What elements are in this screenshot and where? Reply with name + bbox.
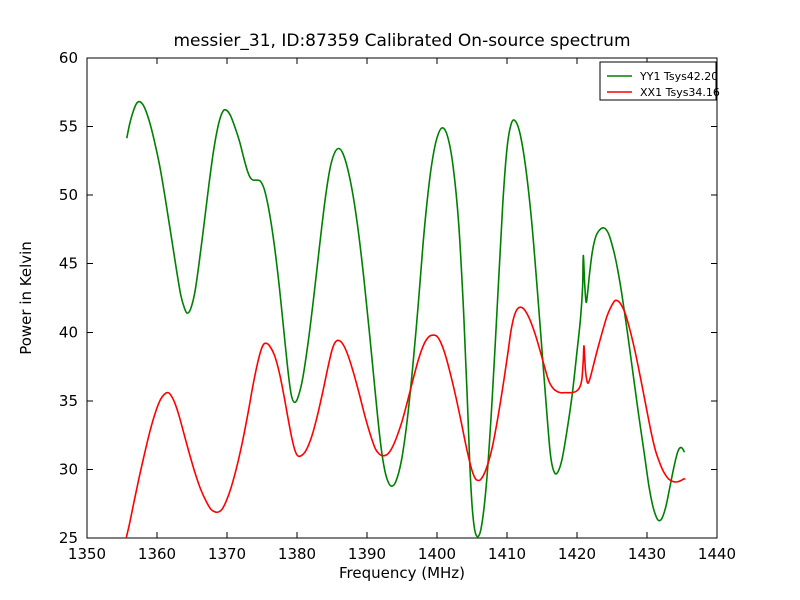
x-tick-label: 1350 (68, 545, 106, 563)
y-tick-label: 30 (59, 460, 78, 478)
x-tick-label: 1380 (278, 545, 316, 563)
figure-canvas: messier_31, ID:87359 Calibrated On-sourc… (0, 0, 800, 600)
y-axis-title: Power in Kelvin (17, 241, 35, 355)
x-tick-label: 1390 (348, 545, 386, 563)
spectrum-chart: messier_31, ID:87359 Calibrated On-sourc… (0, 0, 800, 600)
x-tick-label: 1370 (208, 545, 246, 563)
chart-title: messier_31, ID:87359 Calibrated On-sourc… (174, 31, 631, 51)
x-axis-title: Frequency (MHz) (339, 564, 465, 582)
x-tick-label: 1400 (418, 545, 456, 563)
x-tick-label: 1430 (628, 545, 666, 563)
y-tick-label: 60 (59, 49, 78, 67)
x-tick-label: 1360 (138, 545, 176, 563)
y-tick-label: 55 (59, 118, 78, 136)
y-tick-label: 45 (59, 255, 78, 273)
x-tick-label: 1440 (698, 545, 736, 563)
y-tick-label: 25 (59, 529, 78, 547)
legend: YY1 Tsys42.20XX1 Tsys34.16 (600, 62, 720, 100)
x-tick-label: 1420 (558, 545, 596, 563)
legend-label: YY1 Tsys42.20 (639, 70, 718, 83)
legend-label: XX1 Tsys34.16 (640, 86, 720, 99)
x-tick-label: 1410 (488, 545, 526, 563)
y-tick-label: 50 (59, 186, 78, 204)
y-tick-label: 40 (59, 323, 78, 341)
y-tick-label: 35 (59, 392, 78, 410)
